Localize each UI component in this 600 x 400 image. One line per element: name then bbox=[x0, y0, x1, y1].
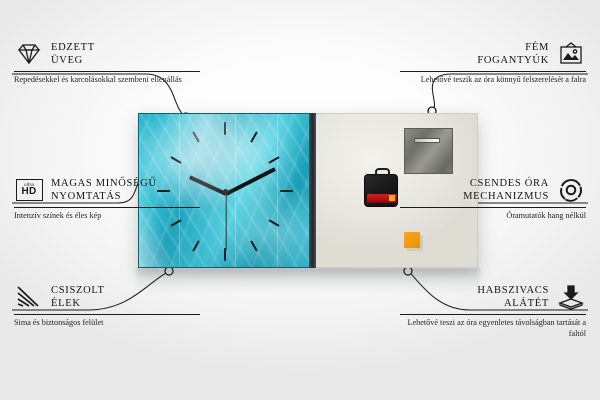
ultra-hd-bottom-text: HD bbox=[21, 187, 36, 197]
clock-hub bbox=[223, 189, 228, 194]
mechanism-loop bbox=[375, 168, 390, 177]
quartz-mechanism bbox=[364, 174, 398, 207]
feature-title: CSISZOLT ÉLEK bbox=[51, 284, 105, 310]
framed-picture-hanger-icon bbox=[556, 40, 586, 68]
gear-icon bbox=[556, 176, 586, 204]
feature-description: Sima és biztonságos felület bbox=[14, 318, 200, 329]
diagonal-lines-icon bbox=[14, 283, 44, 311]
hour-marker bbox=[170, 156, 181, 164]
feature-high-quality-print: ultra HD MAGAS MINŐSÉGŰ NYOMTATÁS Intenz… bbox=[14, 176, 200, 222]
feature-tempered-glass: EDZETT ÜVEG Repedésekkel és karcolásokka… bbox=[14, 40, 200, 86]
foam-pad bbox=[404, 232, 420, 248]
ultra-hd-icon: ultra HD bbox=[14, 176, 44, 204]
hour-marker bbox=[250, 131, 258, 142]
feature-description: Intenzív színek és éles kép bbox=[14, 211, 200, 222]
feature-silent-clock-mechanism: CSENDES ÓRA MECHANIZMUS Óramutatók hang bbox=[400, 176, 586, 222]
battery-plus-terminal bbox=[389, 195, 395, 201]
battery bbox=[367, 194, 397, 203]
divider bbox=[400, 207, 586, 208]
divider bbox=[14, 314, 200, 315]
hanger-slot bbox=[414, 138, 440, 143]
divider bbox=[400, 314, 586, 315]
feature-description: Lehetővé teszik az óra könnyű felszerelé… bbox=[400, 75, 586, 86]
diamond-icon bbox=[14, 40, 44, 68]
divider bbox=[14, 71, 200, 72]
infographic-canvas: EDZETT ÜVEG Repedésekkel és karcolásokka… bbox=[0, 0, 600, 400]
hour-marker bbox=[268, 219, 279, 227]
feature-metal-handles: FÉM FOGANTYÚK Lehetővé teszik az óra kön… bbox=[400, 40, 586, 86]
feature-polished-edges: CSISZOLT ÉLEK Sima és biztonságos felüle… bbox=[14, 283, 200, 329]
hour-marker bbox=[192, 131, 200, 142]
down-arrow-on-pad-icon bbox=[556, 283, 586, 311]
feature-description: Óramutatók hang nélkül bbox=[400, 211, 586, 222]
hour-marker bbox=[268, 156, 279, 164]
feature-title: HABSZIVACS ALÁTÉT bbox=[477, 284, 549, 310]
feature-description: Lehetővé teszi az óra egyenletes távolsá… bbox=[400, 318, 586, 339]
divider bbox=[14, 207, 200, 208]
hour-marker bbox=[280, 190, 293, 192]
feature-foam-backing: HABSZIVACS ALÁTÉT Lehetővé teszi az óra … bbox=[400, 283, 586, 339]
hour-marker bbox=[224, 248, 226, 261]
feature-title: FÉM FOGANTYÚK bbox=[477, 41, 549, 67]
divider bbox=[400, 71, 586, 72]
feature-description: Repedésekkel és karcolásokkal szembeni e… bbox=[14, 75, 200, 86]
feature-title: MAGAS MINŐSÉGŰ NYOMTATÁS bbox=[51, 177, 157, 203]
feature-title: CSENDES ÓRA MECHANIZMUS bbox=[463, 177, 549, 203]
feature-title: EDZETT ÜVEG bbox=[51, 41, 95, 67]
minute-hand bbox=[225, 167, 276, 196]
metal-hanger bbox=[404, 128, 453, 174]
hour-marker bbox=[224, 122, 226, 135]
hour-marker bbox=[192, 240, 200, 251]
hour-marker bbox=[250, 240, 258, 251]
second-hand bbox=[225, 193, 226, 251]
